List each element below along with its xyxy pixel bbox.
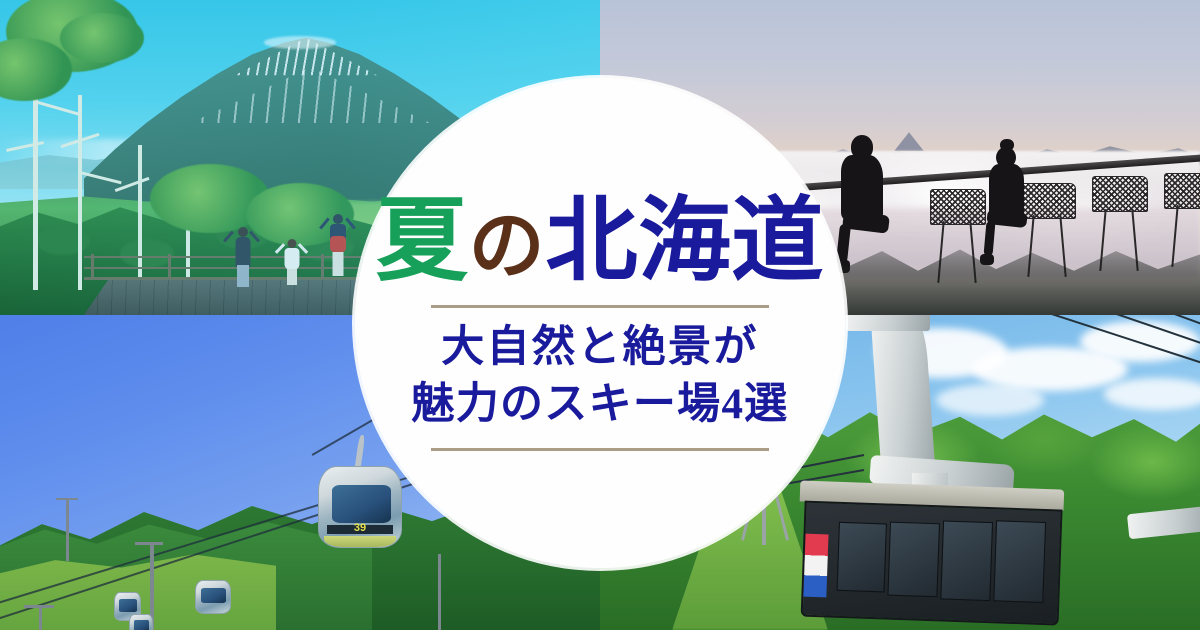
cloud [1104,378,1200,410]
person-body [285,248,300,270]
person-body [236,237,251,267]
divider-bottom [431,448,769,451]
lift-tower [66,498,69,561]
tree-canopy [60,13,144,63]
silhouette-person-right [978,142,1044,268]
cloud [936,384,1044,416]
rail-post [91,254,94,279]
title-segment-hokkaido: 北海道 [546,190,825,292]
lift-tower-arm [56,498,78,501]
person-head [238,227,248,237]
gondola-cabin-distant [129,614,153,630]
stool-seat [1092,176,1148,212]
subtitle-line-2: 魅力のスキー場4選 [411,377,788,434]
sil-torso [841,155,883,219]
person-head [333,214,343,224]
stool-leg [1171,205,1178,267]
person-legs [287,269,297,285]
title-segment-natsu: 夏 [376,190,469,292]
hokkaido-summer-banner: 39 [0,0,1200,630]
yotei-crater [264,36,336,49]
car-window [887,521,940,597]
stool-seat [1164,173,1200,209]
gondola-cabin-shell [195,580,231,615]
gondola-window [119,599,137,612]
bar-stool [1164,173,1200,268]
subtitle-line-1: 大自然と絶景が [411,320,788,377]
banner-subtitle: 大自然と絶景が 魅力のスキー場4選 [411,320,788,434]
gondola-window [134,620,150,630]
lift-tower-arm [135,542,163,545]
person-adult [228,227,258,303]
car-window [940,521,993,601]
person-legs [237,265,249,287]
banner-title: 夏の北海道 [376,195,825,289]
sil-shin [983,221,995,257]
person-head [288,239,297,248]
person-child-white [279,239,305,302]
birch-trunk [78,95,82,290]
gondola-cabin-distant [195,580,231,615]
rail-post [168,254,171,279]
gondola-cabin-shell [129,614,153,630]
lift-tower [39,605,42,630]
divider-top [431,305,769,308]
title-segment-no: の [469,205,546,289]
gondola-window [201,588,225,604]
car-window [994,520,1047,602]
banner-text-block: 夏の北海道 大自然と絶景が 魅力のスキー場4選 [355,78,845,568]
